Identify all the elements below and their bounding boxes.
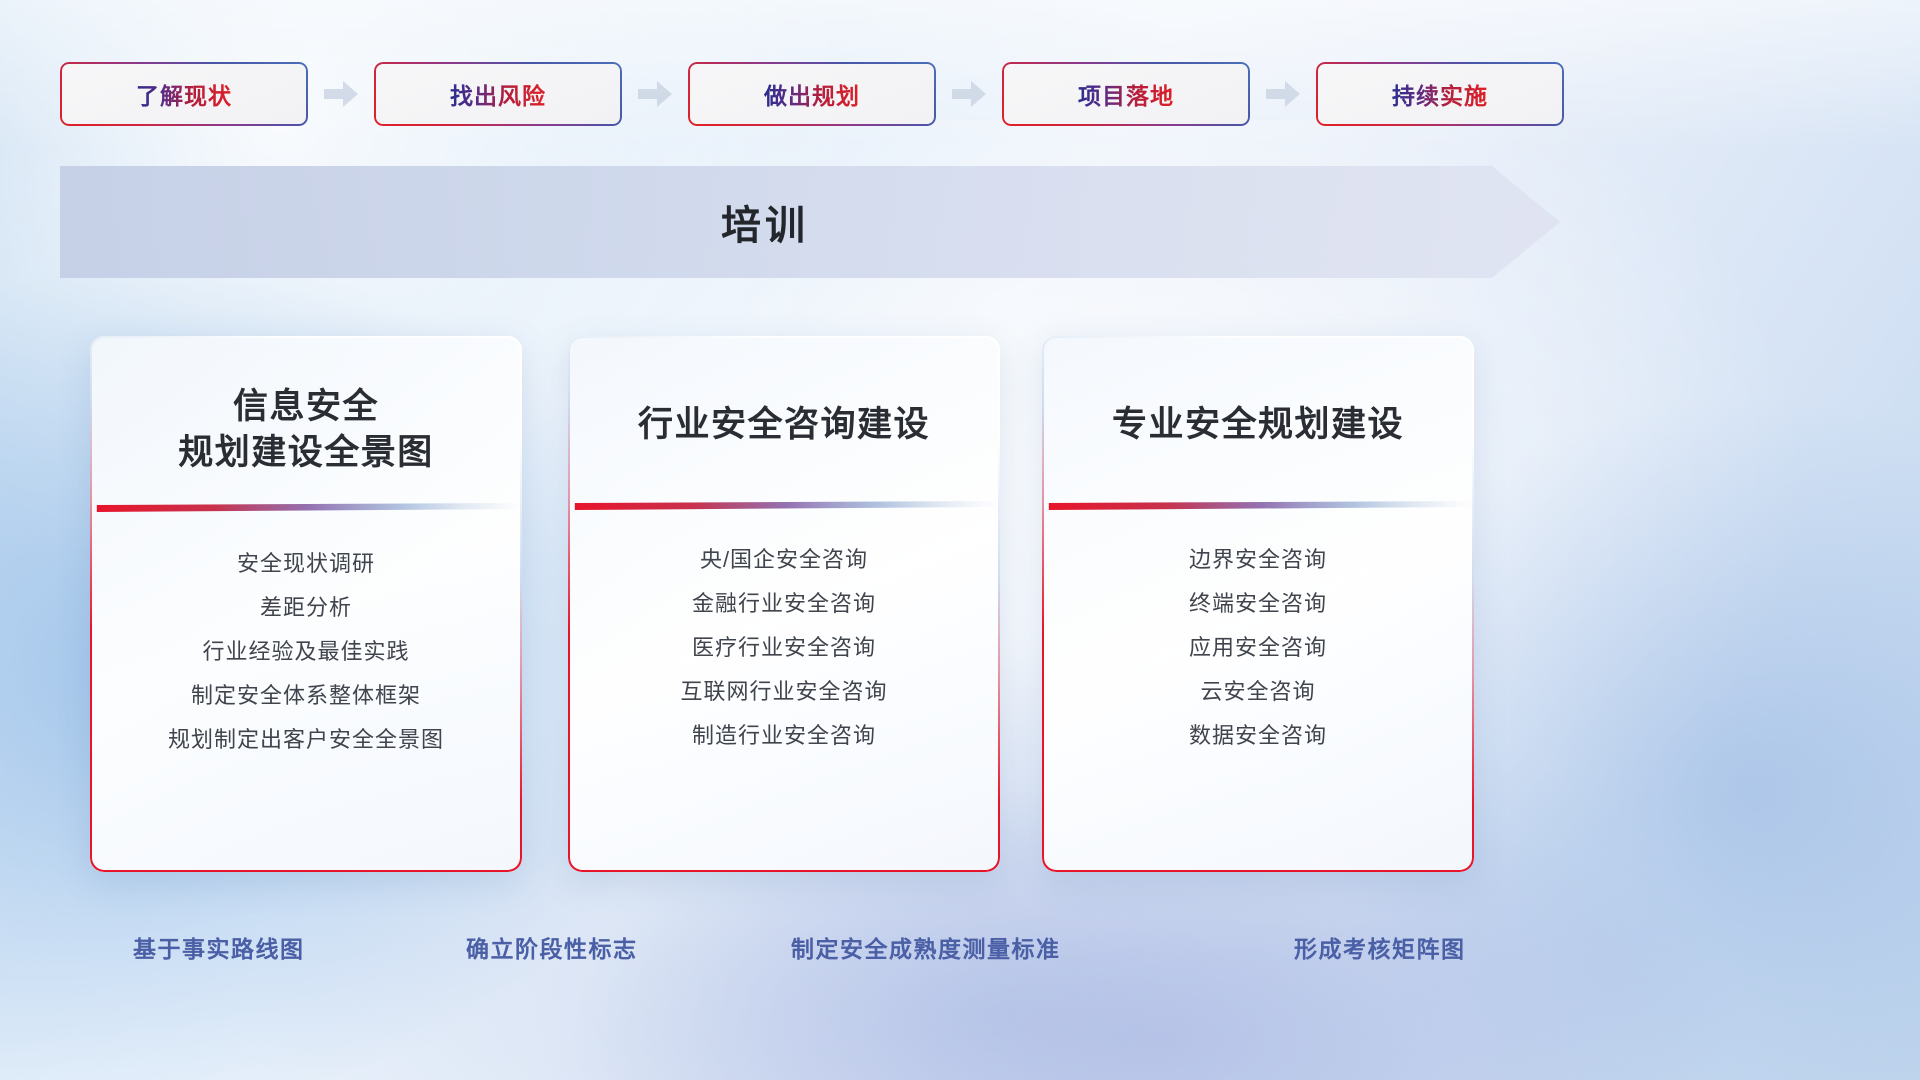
step-connector-4 [1250,81,1316,107]
card-information-security-panorama[interactable]: 信息安全 规划建设全景图 安全现状调研 差距分析 行业经 [90,336,522,872]
list-item: 应用安全咨询 [1042,626,1474,670]
list-item: 规划制定出客户安全全景图 [90,718,522,762]
card-list: 边界安全咨询 终端安全咨询 应用安全咨询 云安全咨询 数据安全咨询 [1042,538,1474,758]
step-box-3[interactable]: 做出规划 [688,62,936,126]
step-box-1[interactable]: 了解现状 [60,62,308,126]
card-title: 专业安全规划建设 [1042,336,1474,448]
divider-gradient-bar [568,500,1000,512]
list-item: 边界安全咨询 [1042,538,1474,582]
training-band: 培训 [60,166,1560,278]
list-item: 互联网行业安全咨询 [568,670,1000,714]
list-item: 金融行业安全咨询 [568,582,1000,626]
card-professional-security-planning[interactable]: 专业安全规划建设 边界安全咨询 终端安全咨询 应用安全咨询 [1042,336,1474,872]
step-label-2: 找出风险 [450,77,546,111]
list-item: 安全现状调研 [90,542,522,586]
card-title-line: 专业安全规划建设 [1056,402,1460,448]
step-box-5[interactable]: 持续实施 [1316,62,1564,126]
divider-gradient-bar [1042,500,1474,512]
step-box-4[interactable]: 项目落地 [1002,62,1250,126]
training-band-title: 培训 [60,166,1560,278]
list-item: 差距分析 [90,586,522,630]
list-item: 医疗行业安全咨询 [568,626,1000,670]
step-label-5: 持续实施 [1392,77,1488,111]
step-label-4: 项目落地 [1078,77,1174,111]
caption-3: 制定安全成熟度测量标准 [791,930,1061,964]
arrow-right-icon [324,81,358,107]
card-title-line: 规划建设全景图 [104,430,508,476]
caption-1: 基于事实路线图 [133,930,305,964]
card-industry-security-consulting[interactable]: 行业安全咨询建设 央/国企安全咨询 金融行业安全咨询 医疗行业安全咨 [568,336,1000,872]
card-title: 信息安全 规划建设全景图 [90,336,522,476]
caption-2: 确立阶段性标志 [466,930,638,964]
step-label-3: 做出规划 [764,77,860,111]
arrow-right-icon [638,81,672,107]
card-divider [90,502,522,514]
step-connector-3 [936,81,1002,107]
card-divider [568,500,1000,512]
process-step-ribbon: 了解现状 找出风险 做出规划 项目落地 持续实施 [60,62,1570,126]
card-row: 信息安全 规划建设全景图 安全现状调研 差距分析 行业经 [0,336,1920,876]
step-label-1: 了解现状 [136,77,232,111]
card-title-line: 行业安全咨询建设 [582,402,986,448]
list-item: 云安全咨询 [1042,670,1474,714]
step-connector-2 [622,81,688,107]
card-title: 行业安全咨询建设 [568,336,1000,448]
card-divider [1042,500,1474,512]
list-item: 央/国企安全咨询 [568,538,1000,582]
arrow-right-icon [952,81,986,107]
step-box-2[interactable]: 找出风险 [374,62,622,126]
card-title-line: 信息安全 [104,384,508,430]
card-list: 央/国企安全咨询 金融行业安全咨询 医疗行业安全咨询 互联网行业安全咨询 制造行… [568,538,1000,758]
step-connector-1 [308,81,374,107]
list-item: 终端安全咨询 [1042,582,1474,626]
divider-gradient-bar [90,502,522,514]
list-item: 数据安全咨询 [1042,714,1474,758]
caption-row: 基于事实路线图 确立阶段性标志 制定安全成熟度测量标准 形成考核矩阵图 [0,930,1920,990]
arrow-right-icon [1266,81,1300,107]
caption-4: 形成考核矩阵图 [1294,930,1466,964]
card-list: 安全现状调研 差距分析 行业经验及最佳实践 制定安全体系整体框架 规划制定出客户… [90,542,522,762]
list-item: 制定安全体系整体框架 [90,674,522,718]
list-item: 制造行业安全咨询 [568,714,1000,758]
list-item: 行业经验及最佳实践 [90,630,522,674]
